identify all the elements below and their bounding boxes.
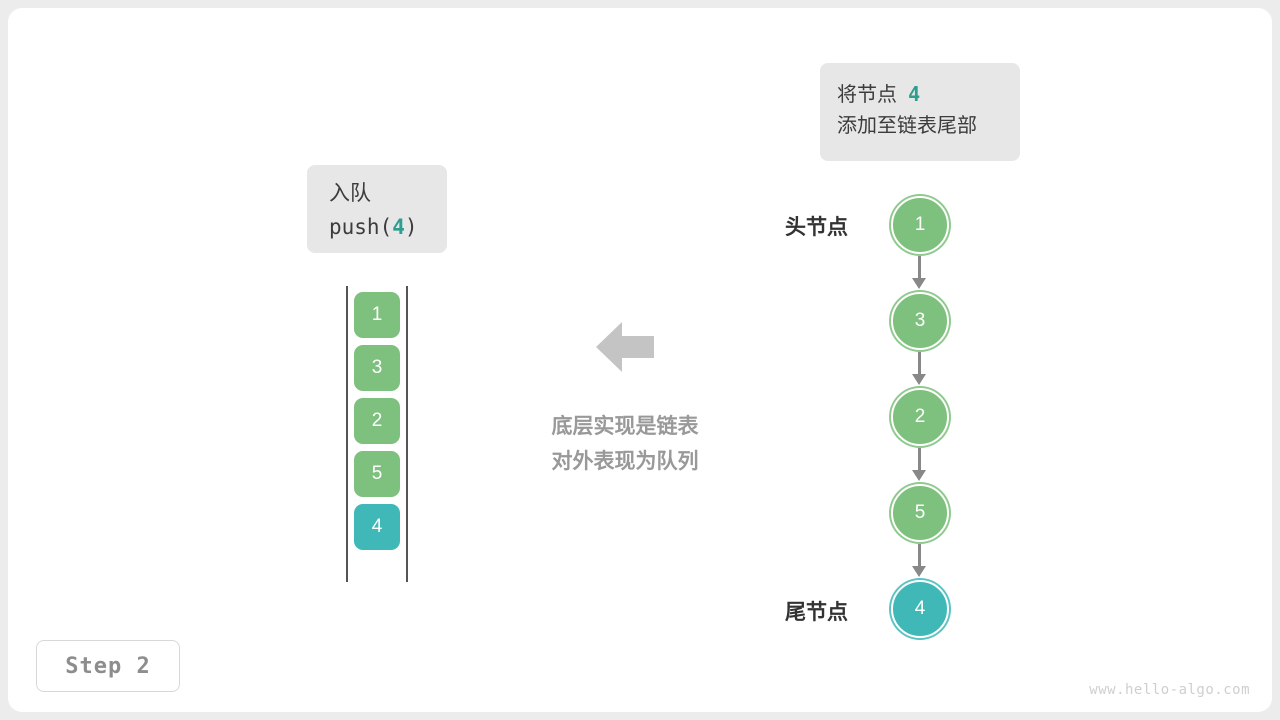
- push-callout-line1: 入队: [329, 178, 447, 211]
- queue-item: 1: [354, 292, 400, 338]
- list-node: 2: [891, 388, 949, 446]
- list-node: 1: [891, 196, 949, 254]
- push-operation-callout: 入队 push(4): [307, 165, 447, 253]
- queue-item: 3: [354, 345, 400, 391]
- append-line1-value: 4: [908, 82, 920, 106]
- append-line1-prefix: 将节点: [837, 84, 897, 106]
- caption-line2: 对外表现为队列: [500, 445, 750, 480]
- list-connector-arrowhead: [912, 470, 926, 481]
- append-callout-line2: 添加至链表尾部: [837, 111, 1020, 142]
- diagram-canvas: 入队 push(4) 将节点 4 添加至链表尾部 1 3 2 5 4 底层实现是…: [0, 0, 1280, 720]
- list-connector-arrowhead: [912, 374, 926, 385]
- list-node: 5: [891, 484, 949, 542]
- linked-list: 1 3 2 5 4: [880, 192, 960, 644]
- push-callout-code: push(4): [329, 211, 447, 244]
- step-badge: Step 2: [36, 640, 180, 692]
- tail-node-label: 尾节点: [785, 596, 848, 626]
- queue-rail-right: [406, 286, 408, 582]
- list-node-new: 4: [891, 580, 949, 638]
- push-code-value: 4: [392, 215, 405, 239]
- append-callout-line1: 将节点 4: [837, 79, 1020, 111]
- caption-line1: 底层实现是链表: [500, 410, 750, 445]
- append-node-callout: 将节点 4 添加至链表尾部: [820, 63, 1020, 161]
- list-connector-arrowhead: [912, 566, 926, 577]
- watermark: www.hello-algo.com: [1089, 682, 1250, 698]
- implementation-caption: 底层实现是链表 对外表现为队列: [500, 410, 750, 479]
- list-node: 3: [891, 292, 949, 350]
- queue-item: 2: [354, 398, 400, 444]
- push-code-prefix: push(: [329, 215, 392, 239]
- head-node-label: 头节点: [785, 211, 848, 241]
- queue-item: 5: [354, 451, 400, 497]
- list-connector-arrowhead: [912, 278, 926, 289]
- left-arrow-icon: [596, 320, 654, 374]
- queue-item-new: 4: [354, 504, 400, 550]
- queue-rail-left: [346, 286, 348, 582]
- push-code-suffix: ): [405, 215, 418, 239]
- queue-stack: 1 3 2 5 4: [346, 286, 408, 582]
